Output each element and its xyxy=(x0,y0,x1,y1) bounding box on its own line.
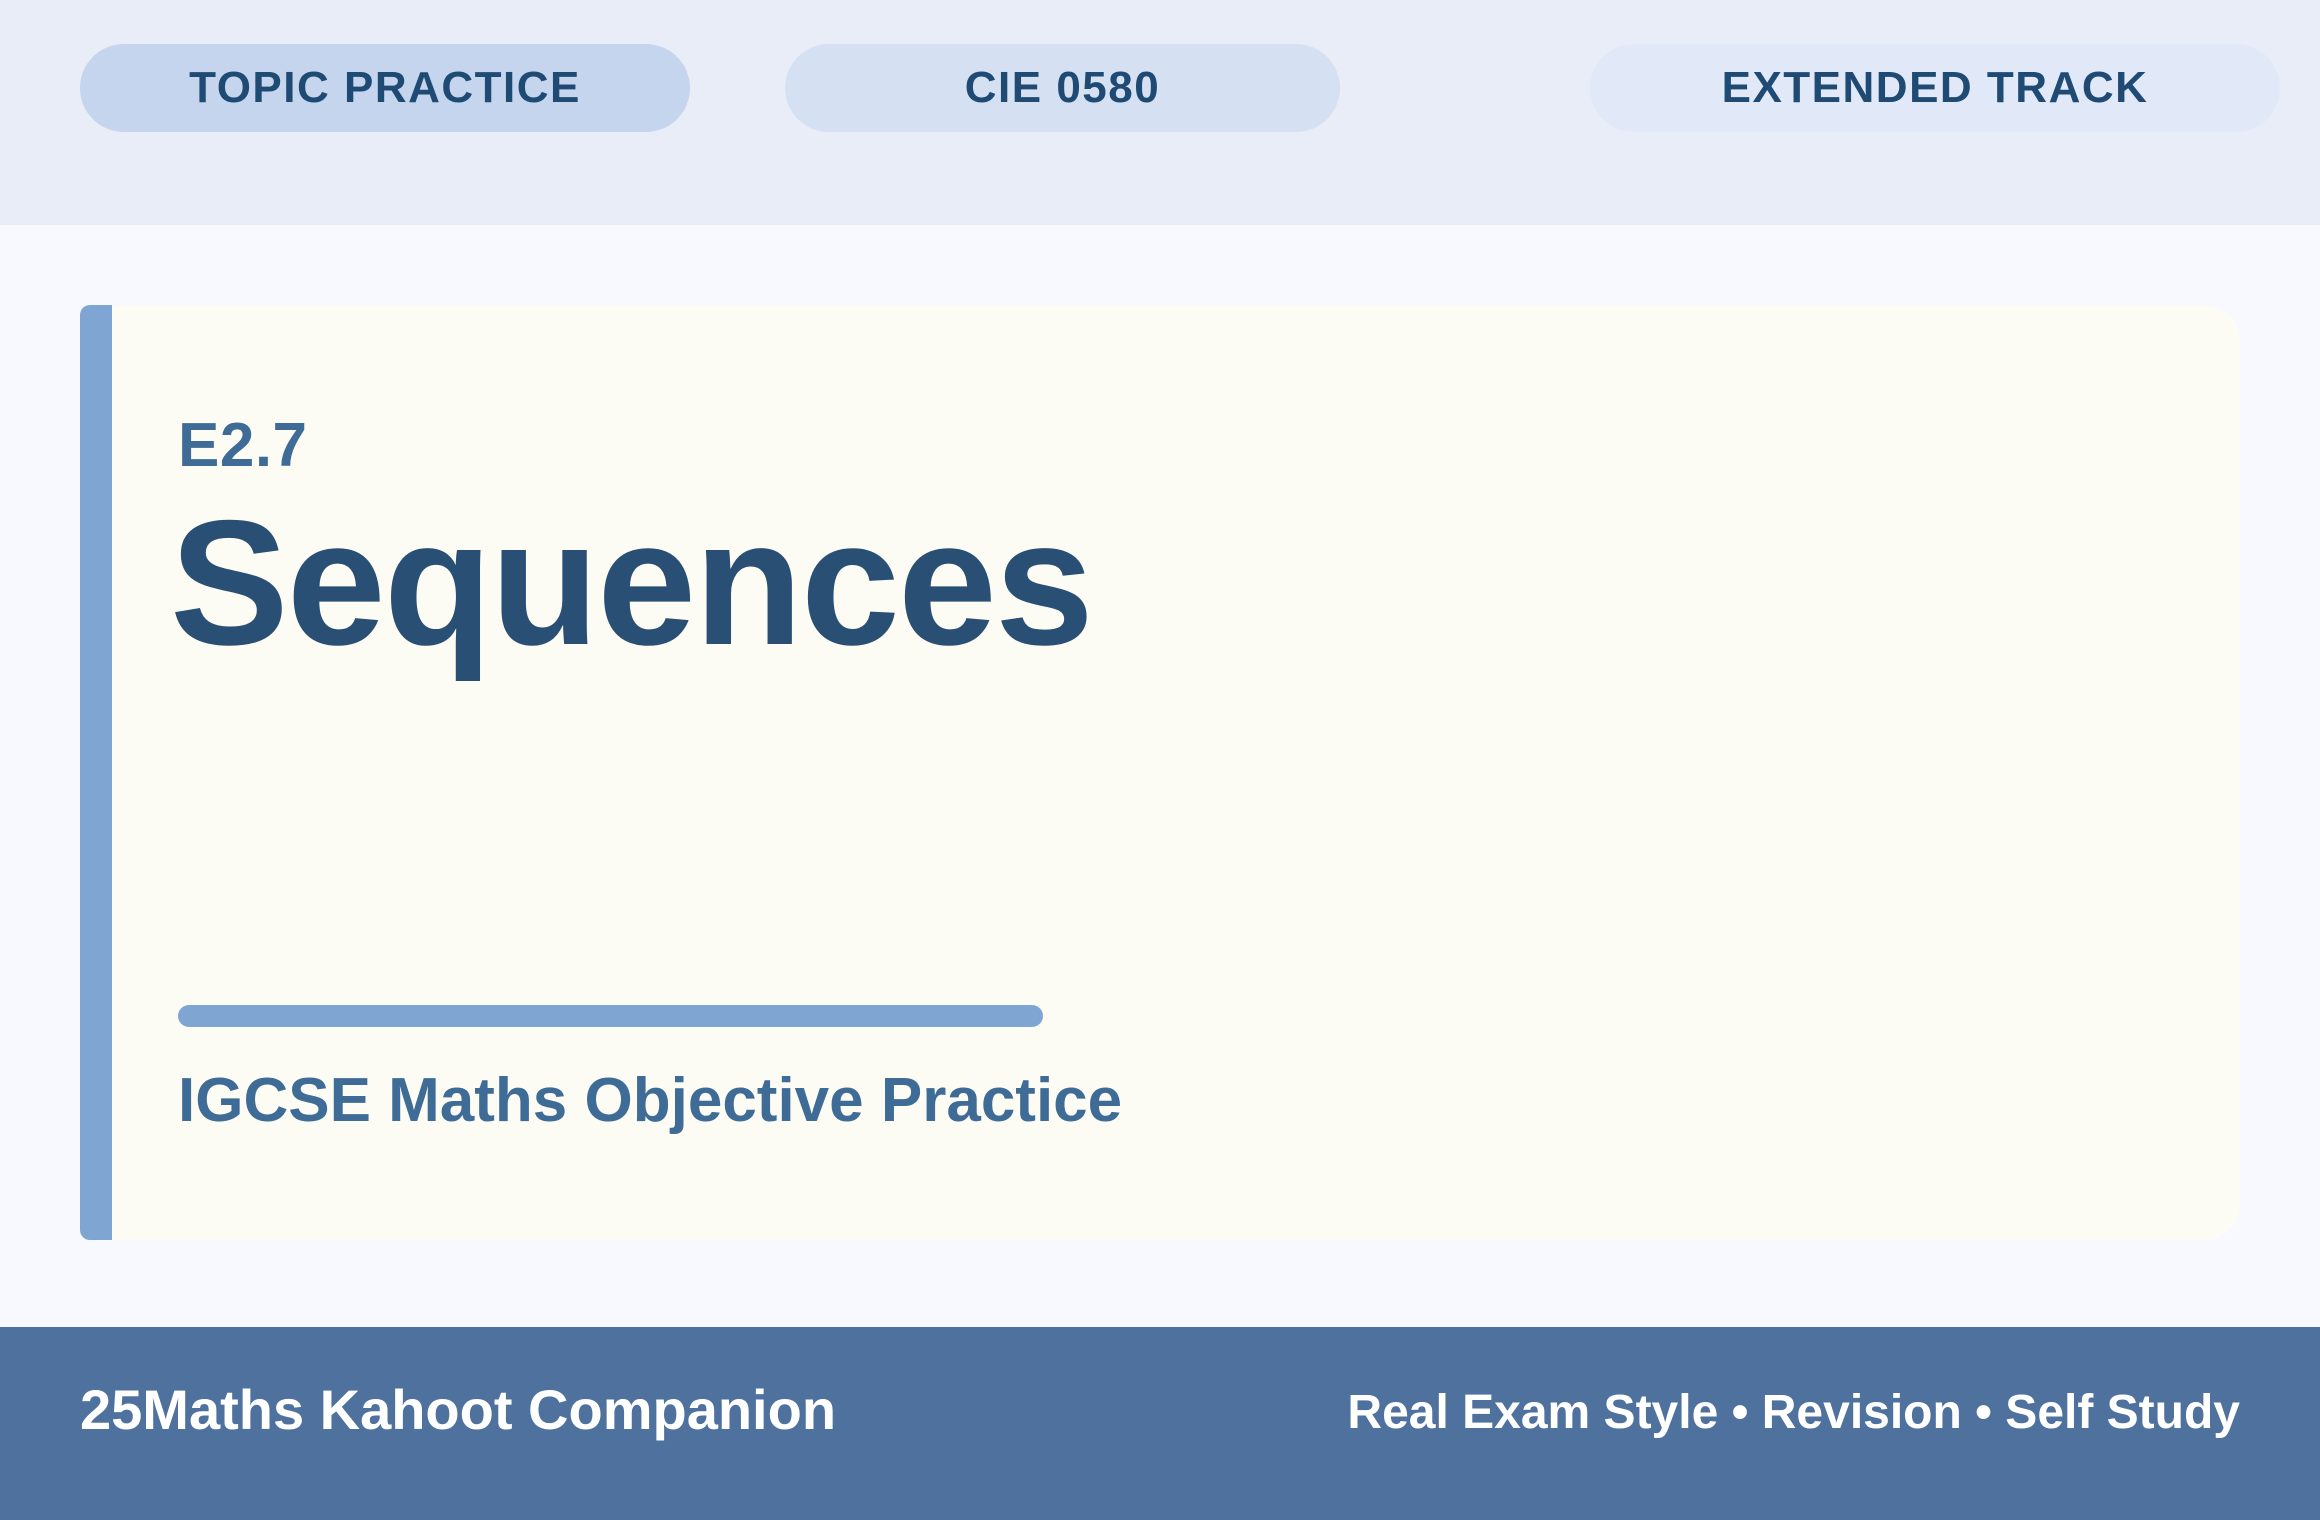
objective-code: E2.7 xyxy=(178,415,308,477)
topic-card: E2.7 Sequences IGCSE Maths Objective Pra… xyxy=(80,305,2240,1240)
footer-tagline: Real Exam Style • Revision • Self Study xyxy=(1347,1385,2240,1440)
card-accent-bar xyxy=(80,305,112,1240)
footer-brand: 25Maths Kahoot Companion xyxy=(80,1377,836,1442)
pill-topic-practice[interactable]: TOPIC PRACTICE xyxy=(80,44,690,132)
pill-track[interactable]: EXTENDED TRACK xyxy=(1590,44,2280,132)
footer-bar: 25Maths Kahoot Companion Real Exam Style… xyxy=(0,1327,2320,1520)
card-subtitle: IGCSE Maths Objective Practice xyxy=(178,1065,1122,1136)
title-divider xyxy=(178,1005,1043,1027)
header-band: TOPIC PRACTICE CIE 0580 EXTENDED TRACK xyxy=(0,0,2320,225)
pill-syllabus-code[interactable]: CIE 0580 xyxy=(785,44,1340,132)
page-title: Sequences xyxy=(170,490,1092,677)
card-content: E2.7 Sequences IGCSE Maths Objective Pra… xyxy=(178,305,2178,1240)
slide-canvas: TOPIC PRACTICE CIE 0580 EXTENDED TRACK E… xyxy=(0,0,2320,1520)
